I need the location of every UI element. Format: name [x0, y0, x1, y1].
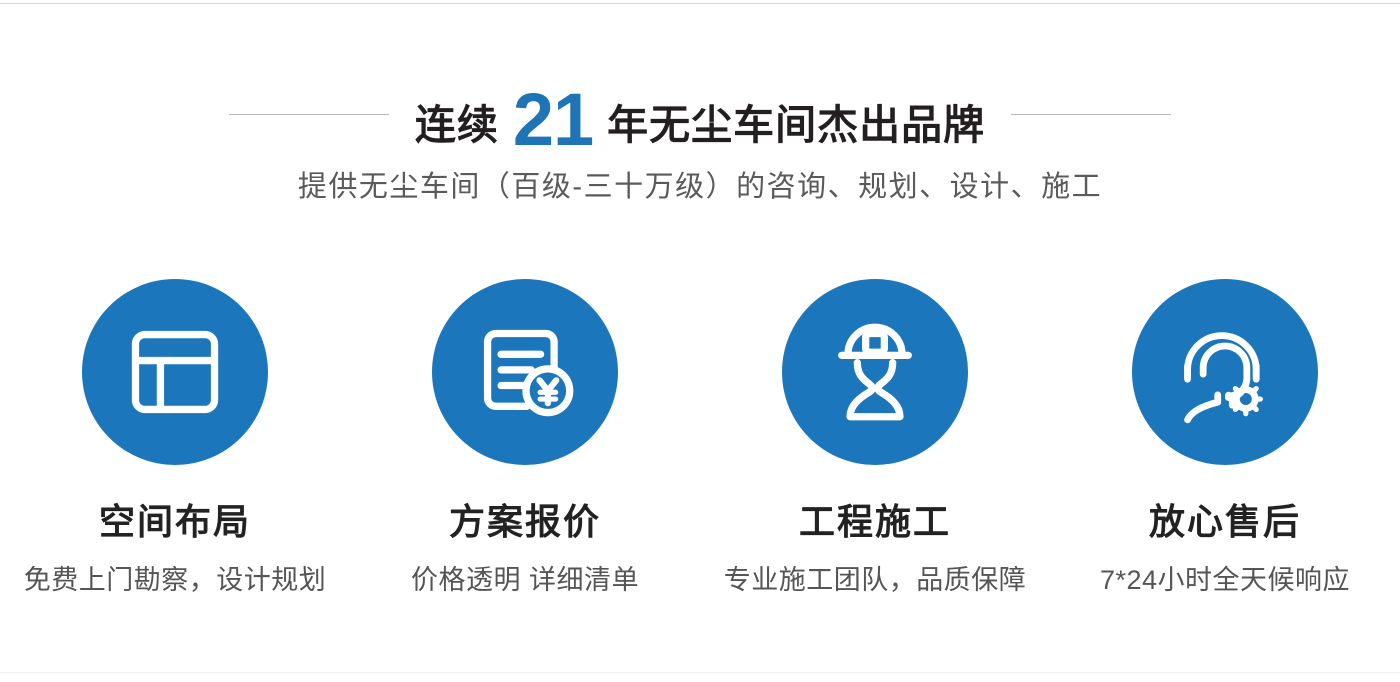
- feature-card-aftersales[interactable]: 放心售后 7*24小时全天候响应: [1050, 264, 1400, 596]
- headset-support-gear-icon: [1173, 320, 1277, 424]
- hardhat-worker-icon: [823, 320, 927, 424]
- headline-suffix: 年无尘车间杰出品牌: [607, 105, 985, 146]
- card-title: 放心售后: [1149, 502, 1301, 542]
- banner-header: 连续 21 年无尘车间杰出品牌 提供无尘车间（百级-三十万级）的咨询、规划、设计…: [0, 78, 1400, 205]
- banner-subtitle: 提供无尘车间（百级-三十万级）的咨询、规划、设计、施工: [0, 170, 1400, 205]
- icon-wrapper: [1117, 264, 1333, 480]
- headline: 连续 21 年无尘车间杰出品牌: [415, 77, 985, 151]
- card-title: 方案报价: [449, 502, 601, 542]
- layout-grid-icon: [123, 320, 227, 424]
- headline-number: 21: [513, 83, 593, 157]
- feature-card-list: 空间布局 免费上门勘察，设计规划: [0, 264, 1400, 596]
- icon-disc: [782, 279, 968, 465]
- card-title: 工程施工: [799, 502, 951, 542]
- feature-card-construction[interactable]: 工程施工 专业施工团队，品质保障: [700, 264, 1050, 596]
- document-yuan-quote-icon: [473, 320, 577, 424]
- icon-disc: [432, 279, 618, 465]
- card-description: 专业施工团队，品质保障: [724, 564, 1027, 596]
- icon-disc: [1132, 279, 1318, 465]
- headline-row: 连续 21 年无尘车间杰出品牌: [0, 78, 1400, 150]
- card-description: 价格透明 详细清单: [411, 564, 639, 596]
- feature-card-space-layout[interactable]: 空间布局 免费上门勘察，设计规划: [0, 264, 350, 596]
- card-description: 免费上门勘察，设计规划: [24, 564, 327, 596]
- card-description: 7*24小时全天候响应: [1100, 564, 1350, 596]
- promo-banner: 连续 21 年无尘车间杰出品牌 提供无尘车间（百级-三十万级）的咨询、规划、设计…: [0, 0, 1400, 682]
- icon-wrapper: [417, 264, 633, 480]
- feature-card-quotation[interactable]: 方案报价 价格透明 详细清单: [350, 264, 700, 596]
- bottom-hairline: [0, 672, 1400, 673]
- top-hairline: [0, 3, 1400, 4]
- icon-wrapper: [67, 264, 283, 480]
- icon-disc: [82, 279, 268, 465]
- headline-rule-left: [229, 114, 389, 115]
- headline-prefix: 连续: [415, 105, 499, 146]
- headline-rule-right: [1011, 114, 1171, 115]
- icon-wrapper: [767, 264, 983, 480]
- card-title: 空间布局: [99, 502, 251, 542]
